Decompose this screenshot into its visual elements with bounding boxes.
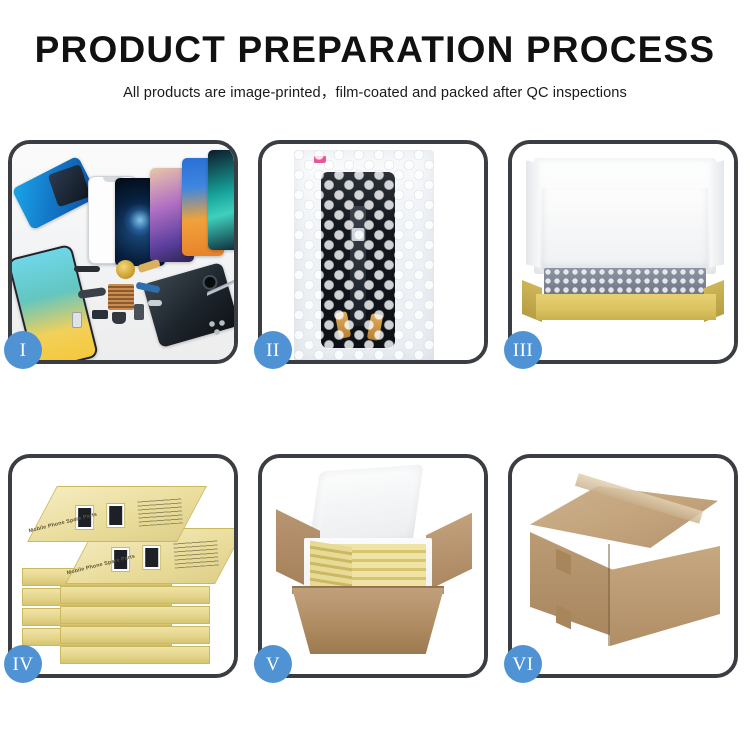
step-image-4: Mobile Phone Spare Parts Mobile Phone Sp… [12, 458, 234, 674]
page-title: PRODUCT PREPARATION PROCESS [0, 31, 750, 68]
step-panel-1: I [8, 140, 238, 364]
step-image-3 [512, 144, 734, 360]
box-stack-image: Mobile Phone Spare Parts Mobile Phone Sp… [18, 470, 234, 668]
step-panel-6: VI [508, 454, 738, 678]
step-image-1 [12, 144, 234, 360]
spare-parts-group [12, 144, 234, 360]
step-badge-3: III [504, 331, 542, 369]
foam-sheet-image [542, 188, 708, 270]
contact-grid-part [108, 284, 134, 310]
stacked-box-edge [60, 606, 210, 624]
bubble-wrap-bag-image [294, 150, 434, 360]
box-window-rear-b [106, 503, 125, 528]
step-panel-5: V [258, 454, 488, 678]
blue-flex-cable-part [136, 282, 161, 294]
carton-body-image [292, 588, 444, 654]
step-badge-2: II [254, 331, 292, 369]
battery-part [134, 304, 144, 320]
box-spec-lines-front [173, 539, 219, 568]
sensor-part [92, 310, 108, 319]
step-image-5 [262, 458, 484, 674]
box-window-front-b [142, 545, 161, 570]
bubble-wrapped-contents-image [544, 268, 706, 296]
product-preparation-infographic: PRODUCT PREPARATION PROCESS All products… [0, 0, 750, 750]
carton-left-face [530, 532, 612, 636]
step-badge-5: V [254, 645, 292, 683]
foam-lid-open-image [309, 464, 424, 549]
camera-module-part [112, 312, 126, 324]
screws-part [208, 320, 230, 336]
stacked-box-edge [60, 626, 210, 644]
bubble-texture [294, 150, 434, 360]
speaker-bar-part [74, 266, 100, 272]
carton-flap-right [426, 513, 472, 591]
stacked-box-edge [60, 586, 210, 604]
step-panel-4: Mobile Phone Spare Parts Mobile Phone Sp… [8, 454, 238, 678]
step-image-6 [512, 458, 734, 674]
connector-part [72, 312, 82, 328]
step-badge-6: VI [504, 645, 542, 683]
step-image-2 [262, 144, 484, 360]
carton-right-face [610, 546, 720, 646]
step-panel-3: III [508, 140, 738, 364]
process-steps-grid: I II [8, 140, 738, 678]
page-subtitle: All products are image-printed，film-coat… [0, 81, 750, 102]
step-badge-4: IV [4, 645, 42, 683]
step-badge-1: I [4, 331, 42, 369]
grey-flex-cable-part [78, 287, 107, 299]
page-header: PRODUCT PREPARATION PROCESS All products… [0, 0, 750, 102]
stacked-box-edge [60, 646, 210, 664]
printed-box-top-rear [27, 486, 207, 542]
tweezers-tool [206, 264, 234, 307]
step-panel-2: II [258, 140, 488, 364]
metal-bracket-part [148, 300, 162, 306]
carton-vertical-edge [608, 544, 610, 646]
box-spec-lines-rear [137, 497, 183, 526]
yellow-tray-front [536, 294, 716, 320]
gold-flex-cable-part [137, 259, 160, 273]
copper-coil-part [116, 260, 135, 279]
